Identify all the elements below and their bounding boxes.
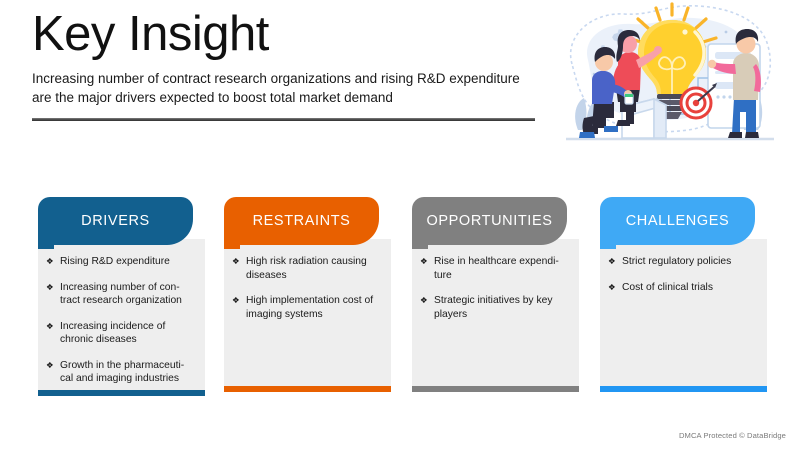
list-item: ❖High implementation cost ofimaging syst… xyxy=(232,294,380,321)
card-accent-bar-drivers xyxy=(38,390,205,396)
list-item: ❖Cost of clinical trials xyxy=(608,281,756,295)
card-header-wrap-challenges: CHALLENGES xyxy=(600,197,767,245)
diamond-bullet-icon: ❖ xyxy=(608,281,616,294)
card-accent-bar-challenges xyxy=(600,386,767,392)
diamond-bullet-icon: ❖ xyxy=(608,255,616,268)
page-title: Key Insight xyxy=(32,8,537,61)
card-accent-bar-opportunities xyxy=(412,386,579,392)
card-body-drivers: ❖Rising R&D expenditure❖Increasing numbe… xyxy=(38,239,205,396)
page-subtitle: Increasing number of contract research o… xyxy=(32,69,535,108)
bullet-list-restraints: ❖High risk radiation causingdiseases❖Hig… xyxy=(232,255,380,321)
card-header-wrap-drivers: DRIVERS xyxy=(38,197,205,245)
card-title-drivers: DRIVERS xyxy=(81,213,150,229)
card-title-opportunities: OPPORTUNITIES xyxy=(427,213,553,229)
list-item-label: Growth in the pharmaceuti-cal and imagin… xyxy=(60,360,184,385)
list-item: ❖Rise in healthcare expendi-ture xyxy=(420,255,568,282)
list-item-label: Increasing incidence ofchronic diseases xyxy=(60,321,165,346)
diamond-bullet-icon: ❖ xyxy=(46,255,54,268)
card-header-challenges[interactable]: CHALLENGES xyxy=(600,197,755,245)
title-divider xyxy=(32,118,535,121)
list-item-label: Rising R&D expenditure xyxy=(60,256,170,267)
diamond-bullet-icon: ❖ xyxy=(232,255,240,268)
diamond-bullet-icon: ❖ xyxy=(420,255,428,268)
list-item: ❖Rising R&D expenditure xyxy=(46,255,194,269)
idea-teamwork-illustration xyxy=(548,2,792,154)
diamond-bullet-icon: ❖ xyxy=(46,281,54,294)
card-body-restraints: ❖High risk radiation causingdiseases❖Hig… xyxy=(224,239,391,392)
bullet-list-opportunities: ❖Rise in healthcare expendi-ture❖Strateg… xyxy=(420,255,568,321)
list-item: ❖Strategic initiatives by keyplayers xyxy=(420,294,568,321)
list-item: ❖Increasing number of con-tract research… xyxy=(46,281,194,308)
list-item: ❖High risk radiation causingdiseases xyxy=(232,255,380,282)
diamond-bullet-icon: ❖ xyxy=(46,359,54,372)
card-accent-bar-restraints xyxy=(224,386,391,392)
list-item-label: High implementation cost ofimaging syste… xyxy=(246,295,373,320)
bullet-list-challenges: ❖Strict regulatory policies❖Cost of clin… xyxy=(608,255,756,294)
card-title-restraints: RESTRAINTS xyxy=(253,213,351,229)
diamond-bullet-icon: ❖ xyxy=(232,294,240,307)
card-title-challenges: CHALLENGES xyxy=(626,213,730,229)
list-item-label: Strict regulatory policies xyxy=(622,256,731,267)
list-item-label: Rise in healthcare expendi-ture xyxy=(434,256,559,281)
list-item: ❖Increasing incidence ofchronic diseases xyxy=(46,320,194,347)
card-body-opportunities: ❖Rise in healthcare expendi-ture❖Strateg… xyxy=(412,239,579,392)
list-item-label: Cost of clinical trials xyxy=(622,282,713,293)
card-header-opportunities[interactable]: OPPORTUNITIES xyxy=(412,197,567,245)
bullet-list-drivers: ❖Rising R&D expenditure❖Increasing numbe… xyxy=(46,255,194,386)
card-opportunities: OPPORTUNITIES❖Rise in healthcare expendi… xyxy=(412,197,579,392)
card-restraints: RESTRAINTS❖High risk radiation causingdi… xyxy=(224,197,391,392)
list-item-label: High risk radiation causingdiseases xyxy=(246,256,367,281)
card-header-drivers[interactable]: DRIVERS xyxy=(38,197,193,245)
diamond-bullet-icon: ❖ xyxy=(46,320,54,333)
slide-header: Key Insight Increasing number of contrac… xyxy=(32,8,537,121)
list-item-label: Strategic initiatives by keyplayers xyxy=(434,295,552,320)
list-item-label: Increasing number of con-tract research … xyxy=(60,282,182,307)
list-item: ❖Strict regulatory policies xyxy=(608,255,756,269)
card-header-restraints[interactable]: RESTRAINTS xyxy=(224,197,379,245)
card-challenges: CHALLENGES❖Strict regulatory policies❖Co… xyxy=(600,197,767,392)
card-drivers: DRIVERS❖Rising R&D expenditure❖Increasin… xyxy=(38,197,205,396)
footer-credit: DMCA Protected © DataBridge xyxy=(679,431,786,440)
card-header-wrap-opportunities: OPPORTUNITIES xyxy=(412,197,579,245)
list-item: ❖Growth in the pharmaceuti-cal and imagi… xyxy=(46,359,194,386)
diamond-bullet-icon: ❖ xyxy=(420,294,428,307)
card-body-challenges: ❖Strict regulatory policies❖Cost of clin… xyxy=(600,239,767,392)
card-header-wrap-restraints: RESTRAINTS xyxy=(224,197,391,245)
